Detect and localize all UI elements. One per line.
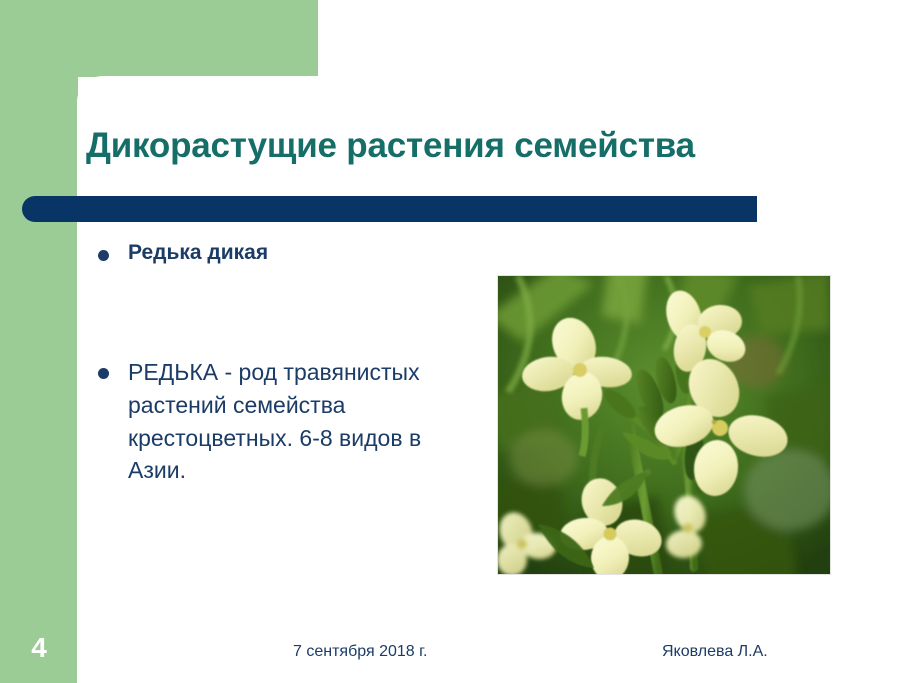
slide-canvas: Дикорастущие растения семейства Редька д… [0,0,910,683]
footer-date: 7 сентября 2018 г. [293,643,427,661]
bullet-dot-icon [98,250,109,261]
body-content: Редька дикая РЕДЬКА - род травянистых ра… [92,240,464,520]
wild-radish-photo [498,276,830,574]
bullet-text: Редька дикая [128,241,268,264]
bullet-text: РЕДЬКА - род травянистых растений семейс… [128,359,464,516]
list-item: РЕДЬКА - род травянистых растений семейс… [92,356,464,519]
page-title: Дикорастущие растения семейства [86,127,876,166]
green-left-column [0,0,78,683]
title-accent-bar [22,196,757,222]
footer-author: Яковлева Л.А. [662,643,768,661]
slide-number: 4 [0,632,78,664]
bullet-dot-icon [98,368,109,379]
list-item: Редька дикая [92,240,464,266]
